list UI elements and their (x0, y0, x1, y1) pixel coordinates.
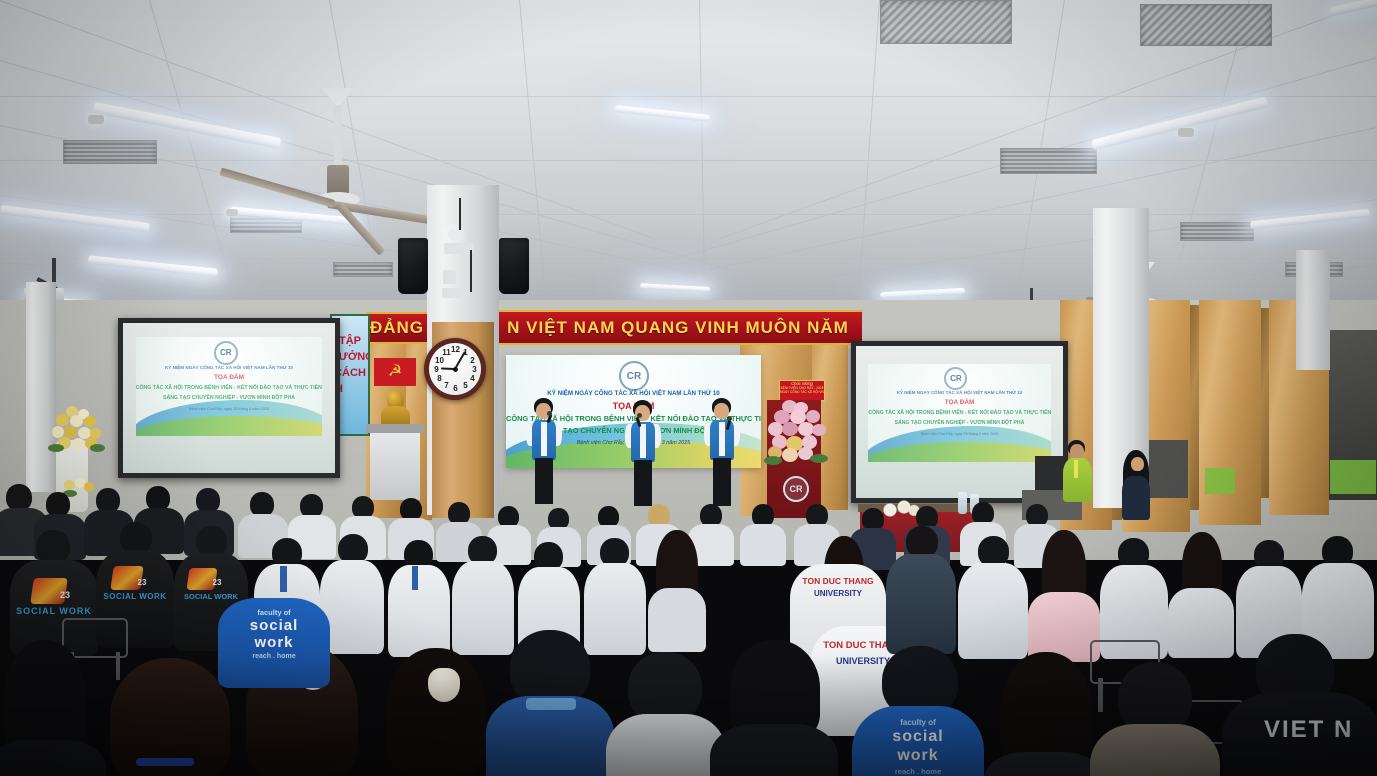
hospital-logo: CR (619, 361, 649, 391)
hvac-vent-icon (63, 140, 157, 164)
petal (56, 414, 69, 426)
blue-tee-line-4: reach . home (218, 653, 330, 660)
pa-speaker-left (398, 238, 428, 294)
clock-number: 5 (462, 381, 469, 390)
slide-content: CR KỶ NIỆM NGÀY CÔNG TÁC XÃ HỘI VIỆT NAM… (868, 364, 1050, 461)
light-bracket (88, 115, 104, 124)
hvac-vent-icon (1000, 148, 1097, 174)
dark-top (710, 724, 838, 776)
blue-tee-line-2: social (218, 617, 330, 634)
clock-number: 3 (471, 365, 478, 374)
clock-center-pin (453, 367, 458, 372)
petal (782, 422, 798, 436)
hammer-sickle-icon: ☭ (388, 364, 402, 380)
slide-line-4: SÁNG TẠO CHUYÊN NGHIỆP - VƯƠN MÌNH ĐỘT P… (868, 420, 1050, 426)
microphone-head (637, 413, 642, 418)
party-flag: ☭ (374, 358, 416, 386)
petal (768, 422, 783, 436)
audience-blue-tee: faculty of social work reach . home (218, 598, 330, 688)
clock-number: 2 (469, 356, 476, 365)
head (1131, 457, 1144, 471)
blue-tee-line-4: reach . home (852, 767, 984, 776)
red-banner-text-left: ĐẢNG (370, 318, 424, 338)
head (6, 484, 32, 511)
vietnam-jacket-text: VIET N (1264, 716, 1377, 744)
slide-line-2: TỌA ĐÀM (136, 374, 323, 381)
fan-downrod (334, 105, 342, 167)
clock-number: 11 (442, 348, 451, 357)
hvac-vent-icon (1180, 222, 1254, 241)
flower-arrangement-left (48, 406, 106, 476)
hvac-vent-icon (880, 0, 1012, 44)
hall-column-far-right (1296, 250, 1330, 370)
microphone-head (727, 416, 732, 421)
audience-front-person (486, 630, 614, 776)
clock-number: 4 (469, 374, 476, 383)
dark-top (0, 740, 106, 776)
hair-tie (136, 758, 194, 766)
clock-number: 7 (443, 381, 450, 390)
red-slogan-banner-left: ĐẢNG (366, 312, 428, 344)
black-tee-number: 23 (52, 590, 78, 600)
leaf (764, 456, 782, 465)
clock-number: 10 (435, 356, 444, 365)
beige-jacket (1090, 724, 1220, 776)
long-hair (386, 648, 486, 776)
audience-front-person (606, 652, 726, 776)
leaf (48, 444, 64, 452)
collar (526, 698, 576, 710)
light-bracket (226, 209, 238, 216)
event-photograph: ☭ ĐẢNG N VIỆT NAM QUANG VINH MUÔN NĂM TẬ… (0, 0, 1377, 776)
clock-number: 6 (452, 384, 459, 393)
leaf (810, 454, 828, 463)
slide-content: CR KỶ NIỆM NGÀY CÔNG TÁC XÃ HỘI VIỆT NAM… (136, 337, 323, 436)
clock-face: 12 1 2 3 4 5 6 7 8 9 10 11 (429, 343, 481, 395)
slide-line-3: CÔNG TÁC XÃ HỘI TRONG BỆNH VIỆN - KẾT NỐ… (868, 410, 1050, 416)
slide-line-1: KỶ NIỆM NGÀY CÔNG TÁC XÃ HỘI VIỆT NAM LẦ… (868, 390, 1050, 395)
audience-front-person (372, 648, 502, 776)
slide-line-1: KỶ NIỆM NGÀY CÔNG TÁC XÃ HỘI VIỆT NAM LẦ… (136, 365, 323, 370)
tdt-tee-line-1: TON DUC THANG (790, 576, 886, 586)
backdrop-line-1: KỶ NIỆM NGÀY CÔNG TÁC XÃ HỘI VIỆT NAM LẦ… (506, 390, 761, 397)
lectern-top (366, 424, 424, 433)
ceiling (0, 0, 1377, 330)
light-bracket (1178, 128, 1194, 137)
lanyard (412, 566, 418, 590)
blue-tee-line-2: social (852, 728, 984, 746)
audience-front-person (984, 652, 1104, 776)
audience-front-person (1090, 662, 1220, 776)
hvac-vent-icon (1140, 4, 1272, 46)
red-slogan-banner-main: N VIỆT NAM QUANG VINH MUÔN NĂM (494, 310, 862, 345)
head (1070, 444, 1084, 459)
blue-tee-line-1: faculty of (852, 718, 984, 727)
cable (470, 250, 472, 292)
clock-number: 9 (433, 365, 440, 374)
slide-line-2: TỌA ĐÀM (868, 399, 1050, 406)
petal (812, 424, 826, 436)
clock-number: 8 (436, 374, 443, 383)
white-uniform (606, 714, 726, 776)
audience-front-row: faculty of social work reach . home (0, 600, 1377, 776)
audience-blue-tee: faculty of social work reach . home (852, 656, 984, 776)
blue-tee-line-1: faculty of (218, 608, 330, 617)
lanyard (280, 566, 287, 592)
black-tee-number: 23 (206, 578, 228, 587)
petal (782, 448, 798, 462)
slide-line-3: CÔNG TÁC XÃ HỘI TRONG BỆNH VIỆN - KẾT NỐ… (136, 385, 323, 391)
slide-logo: CR (944, 367, 967, 390)
slide-line-5: Bệnh viện Chợ Rẫy, ngày 25 tháng 3 năm 2… (136, 407, 323, 411)
ceiling-tile-grid (0, 0, 1377, 330)
junction-box (443, 270, 456, 284)
leaf (90, 444, 105, 452)
slide-logo: CR (214, 341, 238, 365)
shirt-front (541, 422, 547, 456)
cable (459, 198, 461, 230)
hvac-vent-icon (333, 262, 393, 277)
blue-tee-line-3: work (852, 747, 984, 765)
left-projection-screen[interactable]: CR KỶ NIỆM NGÀY CÔNG TÁC XÃ HỘI VIỆT NAM… (118, 318, 340, 478)
shirt-front (640, 424, 646, 458)
shirt-front (719, 422, 725, 456)
audience-vietnam-jacket: VIET N (1222, 634, 1377, 776)
black-tee-number: 23 (130, 578, 154, 587)
petal (72, 438, 85, 450)
pa-speaker-right (499, 238, 529, 294)
wall-clock: 12 1 2 3 4 5 6 7 8 9 10 11 (424, 338, 486, 400)
audience-front-person (0, 640, 106, 776)
congrat-line-3: NGÀY CÔNG TÁC XÃ HỘI VN (780, 390, 824, 394)
audience-front-person (710, 640, 838, 776)
clock-number: 12 (451, 345, 460, 354)
microphone-head (547, 411, 552, 416)
screen-surface: CR KỶ NIỆM NGÀY CÔNG TÁC XÃ HỘI VIỆT NAM… (123, 323, 335, 473)
hair-clip (428, 668, 460, 702)
slide-line-4: SÁNG TẠO CHUYÊN NGHIỆP - VƯƠN MÌNH ĐỘT P… (136, 395, 323, 401)
petal (806, 410, 820, 423)
head (36, 530, 70, 564)
red-banner-text-main: N VIỆT NAM QUANG VINH MUÔN NĂM (507, 318, 849, 338)
blue-tee-line-3: work (218, 634, 330, 651)
petal (84, 416, 96, 427)
junction-box (442, 288, 468, 298)
slide-line-5: Bệnh viện Chợ Rẫy, ngày 25 tháng 3 năm 2… (868, 432, 1050, 436)
tdt-tee-line-2: UNIVERSITY (790, 589, 886, 598)
